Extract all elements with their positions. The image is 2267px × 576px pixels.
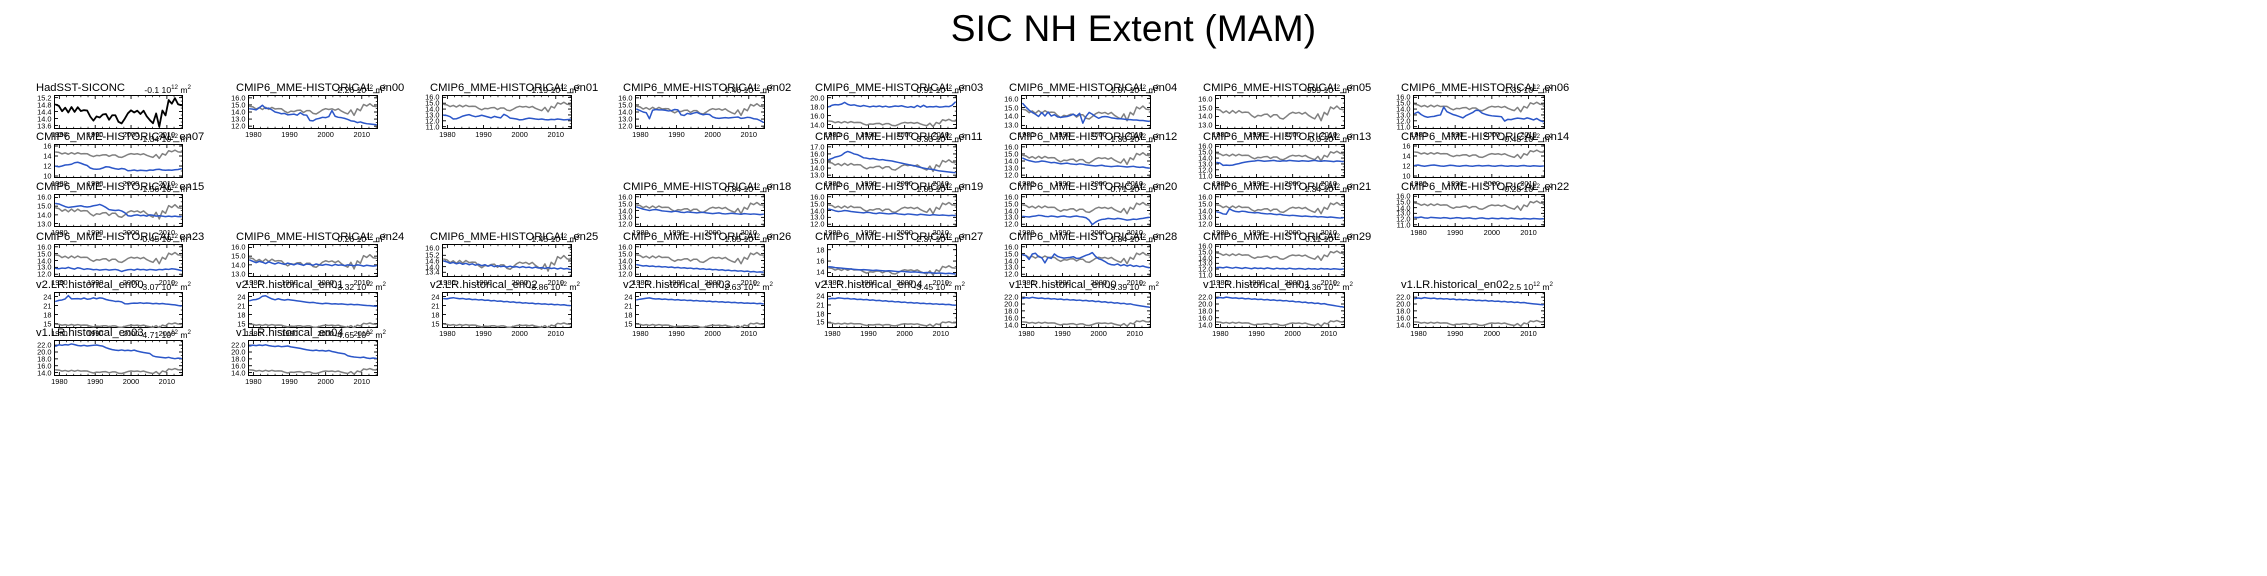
plot-area: 13.014.015.016.01980199020002010 (1215, 95, 1345, 129)
panel-trend-value: -1.46 1012 m2 (722, 82, 773, 96)
panel-trend-value: -3.07 1012 m2 (140, 279, 191, 293)
y-tick-label: 18 (816, 246, 824, 253)
plot-svg (248, 244, 378, 277)
plot-frame (1022, 195, 1151, 227)
panel-header: v1.LR.historical_en03-4.71 1012 m2 (18, 327, 193, 340)
panel-header: v2.LR.historical_en04-3.45 1012 m2 (797, 279, 967, 292)
y-tick-label: 18.0 (810, 103, 824, 110)
plot-svg (1413, 194, 1545, 227)
y-tick-label: 21 (237, 302, 245, 309)
y-tick-label: 13.0 (231, 270, 245, 277)
series-line-model (1415, 298, 1543, 305)
plot-area: 11.012.013.014.015.016.01980199020002010 (1413, 95, 1545, 129)
plot-svg (1413, 95, 1545, 129)
plot-svg (442, 244, 572, 277)
plot-svg (1021, 144, 1151, 178)
series-line-reference (250, 369, 376, 375)
panel-en25: CMIP6_MME-HISTORICAL_en25-1.45 1012 m213… (412, 231, 582, 277)
series-line-model (637, 298, 763, 304)
x-tick-label: 2000 (317, 131, 333, 139)
y-tick-label: 16.0 (1004, 243, 1018, 250)
y-tick-label: 15 (816, 319, 824, 326)
series-line-model (1023, 215, 1149, 224)
y-tick-label: 12.0 (231, 122, 245, 129)
y-tick-label: 15.0 (1198, 104, 1212, 111)
series-line-reference (637, 252, 763, 263)
panel-header: v2.LR.historical_en00-3.07 1012 m2 (18, 279, 193, 292)
series-line-reference (56, 252, 181, 263)
panel-trend-value: -1.05 1012 m2 (722, 231, 773, 245)
panel-trend-value: -1.34 1012 m2 (1302, 181, 1353, 195)
x-tick-label: 1980 (439, 330, 455, 338)
series-line-reference (1217, 106, 1343, 121)
panel-title: v2.LR.historical_en02 (430, 279, 538, 291)
panel-trend-value: -0.91 1012 m2 (914, 82, 965, 96)
panel-v2lr-en02: v2.LR.historical_en02-3.86 1012 m2151821… (412, 279, 582, 328)
panel-trend-value: -3.86 1012 m2 (529, 279, 580, 293)
y-tick-label: 16.0 (231, 244, 245, 251)
y-tick-label: 16.0 (37, 243, 51, 250)
plot-frame (55, 293, 183, 328)
y-tick-label: 24 (431, 293, 439, 300)
y-tick-label: 16 (816, 257, 824, 264)
panel-en06: CMIP6_MME-HISTORICAL_en06-1.33 1012 m211… (1383, 82, 1555, 129)
y-tick-label: 16.0 (1198, 95, 1212, 102)
panel-v2lr-en03: v2.LR.historical_en03-2.63 1012 m2151821… (605, 279, 775, 328)
y-tick-label: 14.0 (1198, 113, 1212, 120)
panel-en13: CMIP6_MME-HISTORICAL_en13-0.3 1012 m211.… (1185, 131, 1355, 178)
y-tick-label: 12.0 (1004, 171, 1018, 178)
x-tick-label: 1980 (632, 330, 648, 338)
y-tick-label: 18 (624, 311, 632, 318)
panel-header: CMIP6_MME-HISTORICAL_en25-1.45 1012 m2 (412, 231, 582, 244)
plot-area: 11.012.013.014.015.016.01980199020002010 (442, 95, 572, 129)
panel-en27: CMIP6_MME-HISTORICAL_en27-2.37 1012 m214… (797, 231, 967, 277)
y-tick-label: 18 (43, 311, 51, 318)
panel-header: v1.LR.historical_en00-3.39 1012 m2 (991, 279, 1161, 292)
plot-frame (1216, 245, 1345, 277)
panel-trend-value: -1.05 1012 m2 (914, 181, 965, 195)
plot-area: 12.013.014.015.016.01980199020002010 (248, 95, 378, 129)
plot-area: 14.016.018.020.022.01980199020002010 (1413, 292, 1545, 328)
y-tick-label: 16.0 (1004, 95, 1018, 102)
panel-trend-value: -1.45 1012 m2 (529, 231, 580, 245)
panel-en01: CMIP6_MME-HISTORICAL_en01-1.19 1012 m211… (412, 82, 582, 129)
series-line-model (829, 298, 955, 305)
x-tick-label: 1980 (1410, 229, 1426, 237)
panel-en26: CMIP6_MME-HISTORICAL_en26-1.05 1012 m212… (605, 231, 775, 277)
series-line-model (1023, 297, 1149, 307)
panel-v2lr-en01: v2.LR.historical_en01-3.32 1012 m2151821… (218, 279, 388, 328)
x-tick-label: 2010 (354, 378, 370, 386)
series-line-reference (1415, 321, 1543, 327)
series-line-model (56, 267, 181, 271)
y-tick-label: 14.0 (618, 108, 632, 115)
x-tick-label: 1990 (668, 330, 684, 338)
series-line-reference (1023, 153, 1149, 165)
plot-svg (827, 194, 957, 227)
plot-area: 12.013.014.015.016.01980199020002010 (1021, 144, 1151, 178)
panel-v1lr-en02: v1.LR.historical_en02-2.5 1012 m214.016.… (1383, 279, 1555, 328)
y-tick-label: 15.0 (1004, 150, 1018, 157)
plot-svg (1215, 95, 1345, 129)
x-tick-label: 2000 (1284, 330, 1300, 338)
plot-svg (248, 95, 378, 129)
y-tick-label: 13.0 (37, 220, 51, 227)
series-line-model (829, 102, 955, 107)
y-tick-label: 14 (1402, 152, 1410, 159)
y-tick-label: 17.0 (810, 143, 824, 150)
plot-svg (54, 340, 183, 376)
panel-trend-value: -1.07 1012 m2 (1108, 82, 1159, 96)
plot-area: 12.013.014.015.016.01980199020002010 (827, 194, 957, 227)
series-line-model (1217, 160, 1343, 165)
x-tick-label: 2010 (741, 330, 757, 338)
panel-trend-value: -3.45 1012 m2 (914, 279, 965, 293)
series-line-model (250, 345, 376, 359)
plot-svg (1413, 292, 1545, 328)
plot-area: 14.016.018.020.022.01980199020002010 (1215, 292, 1345, 328)
x-tick-label: 1990 (87, 378, 103, 386)
x-tick-label: 1990 (1447, 229, 1463, 237)
x-tick-label: 2000 (1484, 330, 1500, 338)
y-tick-label: 13.0 (810, 171, 824, 178)
panel-v1lr-en00: v1.LR.historical_en00-3.39 1012 m214.016… (991, 279, 1161, 328)
x-tick-label: 2010 (548, 330, 564, 338)
plot-area: 12.013.014.015.016.01980199020002010 (1021, 244, 1151, 277)
panel-en03: CMIP6_MME-HISTORICAL_en03-0.91 1012 m214… (797, 82, 967, 129)
x-tick-label: 2000 (896, 330, 912, 338)
figure-title: SIC NH Extent (MAM) (0, 8, 2267, 50)
y-tick-label: 16.0 (1198, 243, 1212, 250)
plot-svg (1215, 194, 1345, 227)
panel-en04: CMIP6_MME-HISTORICAL_en04-1.07 1012 m213… (991, 82, 1161, 129)
x-tick-label: 2000 (317, 378, 333, 386)
plot-svg (1021, 95, 1151, 129)
panel-hadsst-siconc: HadSST-SICONC-0.1 1012 m213.614.014.414.… (18, 82, 193, 129)
plot-svg (1413, 144, 1545, 178)
x-tick-label: 1990 (281, 378, 297, 386)
plot-svg (1021, 244, 1151, 277)
series-line-model (56, 204, 181, 217)
plot-frame (55, 145, 183, 178)
plot-svg (827, 144, 957, 178)
series-line-reference (444, 102, 570, 112)
x-tick-label: 1980 (1410, 330, 1426, 338)
x-tick-label: 2010 (159, 378, 175, 386)
plot-frame (443, 293, 572, 328)
series-line-model (1415, 165, 1543, 166)
plot-svg (442, 292, 572, 328)
y-tick-label: 22.0 (231, 341, 245, 348)
y-tick-label: 22.0 (37, 341, 51, 348)
series-line-reference (1415, 150, 1543, 158)
panel-trend-value: -0.1 1012 m2 (144, 82, 191, 96)
plot-area: 14.016.018.020.01980199020002010 (827, 95, 957, 129)
series-line-model (250, 296, 376, 307)
plot-svg (1215, 244, 1345, 277)
x-tick-label: 1990 (1447, 330, 1463, 338)
panel-en00: CMIP6_MME-HISTORICAL_en00-2.26 1012 m212… (218, 82, 388, 129)
plot-svg (54, 244, 183, 277)
y-tick-label: 13.0 (231, 115, 245, 122)
panel-title: v2.LR.historical_en04 (815, 279, 923, 291)
panel-trend-value: -3.33 1012 m2 (914, 131, 965, 145)
y-tick-label: 12 (1402, 162, 1410, 169)
panel-v1lr-en03: v1.LR.historical_en03-4.71 1012 m214.016… (18, 327, 193, 376)
panel-en24: CMIP6_MME-HISTORICAL_en24-0.26 1012 m213… (218, 231, 388, 277)
series-line-model (56, 344, 181, 359)
series-line-reference (829, 202, 955, 213)
y-tick-label: 15.0 (231, 252, 245, 259)
plot-svg (442, 95, 572, 129)
panel-trend-value: -2.26 1012 m2 (335, 82, 386, 96)
series-line-reference (1217, 251, 1343, 260)
y-tick-label: 15.0 (37, 202, 51, 209)
plot-area: 12.013.014.015.016.01980199020002010 (54, 244, 183, 277)
y-tick-label: 16.0 (1004, 193, 1018, 200)
plot-svg (635, 194, 765, 227)
panel-en18: CMIP6_MME-HISTORICAL_en18-0.84 1012 m212… (605, 181, 775, 227)
y-tick-label: 14.0 (810, 164, 824, 171)
y-tick-label: 21 (431, 302, 439, 309)
plot-area: 1416181980199020002010 (827, 244, 957, 277)
plot-frame (249, 96, 378, 129)
plot-frame (636, 293, 765, 328)
series-line-reference (1023, 321, 1149, 327)
plot-area: 12.013.014.015.016.01980199020002010 (635, 95, 765, 129)
plot-area: 12.013.014.015.016.01980199020002010 (635, 194, 765, 227)
x-tick-label: 2010 (1127, 330, 1143, 338)
x-tick-label: 2010 (548, 131, 564, 139)
series-line-model (1217, 267, 1343, 269)
plot-svg (1215, 144, 1345, 178)
plot-frame (1414, 195, 1545, 227)
plot-svg (1021, 194, 1151, 227)
y-tick-label: 22.0 (1004, 293, 1018, 300)
panel-en15: CMIP6_MME-HISTORICAL_en15-1.56 1012 m213… (18, 181, 193, 227)
y-tick-label: 16.0 (425, 244, 439, 251)
y-tick-label: 12.0 (618, 122, 632, 129)
panel-title: v1.LR.historical_en01 (1203, 279, 1311, 291)
plot-svg (635, 244, 765, 277)
y-tick-label: 15.0 (618, 101, 632, 108)
panel-trend-value: -0.71 1012 m2 (1108, 181, 1159, 195)
series-line-reference (829, 322, 955, 327)
plot-frame (1022, 245, 1151, 277)
y-tick-label: 15 (624, 320, 632, 327)
panel-trend-value: -1.19 1012 m2 (529, 82, 580, 96)
plot-svg (635, 95, 765, 129)
panel-en07: CMIP6_MME-HISTORICAL_en07-1.34 1012 m210… (18, 131, 193, 178)
x-tick-label: 1980 (1018, 330, 1034, 338)
x-tick-label: 2010 (354, 131, 370, 139)
x-tick-label: 2000 (511, 131, 527, 139)
y-tick-label: 10 (1402, 172, 1410, 179)
y-tick-label: 22.0 (1198, 293, 1212, 300)
x-tick-label: 1990 (281, 131, 297, 139)
plot-svg (827, 244, 957, 277)
y-tick-label: 16.0 (37, 194, 51, 201)
series-line-reference (56, 369, 181, 375)
y-tick-label: 13.0 (618, 115, 632, 122)
plot-area: 11.012.013.014.015.016.01980199020002010 (1215, 244, 1345, 277)
y-tick-label: 14.0 (37, 211, 51, 218)
plot-area: 14.016.018.020.022.01980199020002010 (1021, 292, 1151, 328)
x-tick-label: 1980 (245, 378, 261, 386)
x-tick-label: 2000 (704, 330, 720, 338)
x-tick-label: 1990 (1248, 330, 1264, 338)
plot-frame (55, 245, 183, 277)
y-tick-label: 16.0 (618, 94, 632, 101)
panel-header: v2.LR.historical_en02-3.86 1012 m2 (412, 279, 582, 292)
panel-trend-value: -3.39 1012 m2 (1108, 279, 1159, 293)
panel-en29: CMIP6_MME-HISTORICAL_en29-0.11 1012 m211… (1185, 231, 1355, 277)
x-tick-label: 1980 (632, 131, 648, 139)
panel-en20: CMIP6_MME-HISTORICAL_en20-0.71 1012 m212… (991, 181, 1161, 227)
panel-header: v2.LR.historical_en01-3.32 1012 m2 (218, 279, 388, 292)
x-tick-label: 2000 (1090, 330, 1106, 338)
plot-frame (443, 96, 572, 129)
plot-svg (248, 340, 378, 376)
panel-title: v2.LR.historical_en00 (36, 279, 144, 291)
plot-svg (827, 292, 957, 328)
y-tick-label: 16 (43, 142, 51, 149)
panel-en14: CMIP6_MME-HISTORICAL_en14-0.48 1012 m210… (1383, 131, 1555, 178)
y-tick-label: 15.2 (425, 252, 439, 259)
y-tick-label: 12 (43, 162, 51, 169)
x-tick-label: 2000 (704, 131, 720, 139)
plot-area: 13.014.015.016.01980199020002010 (248, 244, 378, 277)
panel-header: v1.LR.historical_en04-4.65 1012 m2 (218, 327, 388, 340)
x-tick-label: 1980 (245, 131, 261, 139)
x-tick-label: 1980 (824, 330, 840, 338)
y-tick-label: 16.0 (810, 193, 824, 200)
panel-title: v1.LR.historical_en04 (236, 327, 344, 339)
y-tick-label: 16.0 (618, 243, 632, 250)
panel-title: v2.LR.historical_en03 (623, 279, 731, 291)
plot-area: 11.012.013.014.015.016.01980199020002010 (1413, 194, 1545, 227)
plot-area: 101214161980199020002010 (54, 144, 183, 178)
panel-title: v2.LR.historical_en01 (236, 279, 344, 291)
plot-area: 151821241980199020002010 (248, 292, 378, 328)
y-tick-label: 15.0 (1004, 104, 1018, 111)
plot-area: 151821241980199020002010 (827, 292, 957, 328)
plot-area: 13.014.015.016.01980199020002010 (1021, 95, 1151, 129)
y-tick-label: 15.0 (231, 101, 245, 108)
series-line-model (1023, 253, 1149, 268)
y-tick-label: 14.0 (231, 108, 245, 115)
panel-trend-value: -3.32 1012 m2 (335, 279, 386, 293)
series-line-reference (1217, 151, 1343, 161)
y-tick-label: 14.4 (37, 108, 51, 115)
plot-area: 12.013.014.015.016.01980199020002010 (635, 244, 765, 277)
panel-trend-value: -0.84 1012 m2 (722, 181, 773, 195)
panel-trend-value: -0.26 1012 m2 (335, 231, 386, 245)
panel-trend-value: -1.84 1012 m2 (1108, 231, 1159, 245)
plot-svg (54, 95, 183, 129)
x-tick-label: 1980 (439, 131, 455, 139)
x-tick-label: 1990 (475, 330, 491, 338)
panel-header: CMIP6_MME-HISTORICAL_en27-2.37 1012 m2 (797, 231, 967, 244)
plot-svg (635, 292, 765, 328)
y-tick-label: 24 (624, 293, 632, 300)
y-tick-label: 16.0 (231, 94, 245, 101)
panel-trend-value: -1.33 1012 m2 (1108, 131, 1159, 145)
y-tick-label: 22.0 (1396, 293, 1410, 300)
plot-area: 14.016.018.020.022.01980199020002010 (54, 340, 183, 376)
y-tick-label: 21 (816, 301, 824, 308)
x-tick-label: 1980 (1212, 330, 1228, 338)
panel-trend-value: -4.65 1012 m2 (335, 327, 386, 341)
panel-title: v1.LR.historical_en00 (1009, 279, 1117, 291)
y-tick-label: 16.0 (1198, 143, 1212, 150)
plot-area: 13.014.015.016.01980199020002010 (54, 194, 183, 227)
x-tick-label: 1990 (475, 131, 491, 139)
panel-en19: CMIP6_MME-HISTORICAL_en19-1.05 1012 m212… (797, 181, 967, 227)
x-tick-label: 2010 (1520, 330, 1536, 338)
y-tick-label: 14 (43, 152, 51, 159)
panel-title: v1.LR.historical_en03 (36, 327, 144, 339)
panel-header: v1.LR.historical_en01-3.36 1012 m2 (1185, 279, 1355, 292)
series-line-reference (56, 150, 181, 158)
plot-svg (1215, 292, 1345, 328)
panel-v2lr-en00: v2.LR.historical_en00-3.07 1012 m2151821… (18, 279, 193, 328)
y-tick-label: 18 (237, 311, 245, 318)
y-tick-label: 14.0 (1004, 113, 1018, 120)
x-tick-label: 2000 (511, 330, 527, 338)
panel-trend-value: -3.36 1012 m2 (1302, 279, 1353, 293)
y-tick-label: 16.0 (810, 150, 824, 157)
panel-trend-value: -2.5 1012 m2 (1506, 279, 1553, 293)
series-line-model (1217, 297, 1343, 307)
panel-trend-value: -0.11 1012 m2 (1302, 231, 1353, 245)
plot-area: 13.014.015.016.017.01980199020002010 (827, 144, 957, 178)
plot-area: 151821241980199020002010 (54, 292, 183, 328)
panel-en05: CMIP6_MME-HISTORICAL_en05-999 1012 m213.… (1185, 82, 1355, 129)
plot-area: 13.414.014.615.216.01980199020002010 (442, 244, 572, 277)
panel-trend-value: -1.56 1012 m2 (140, 181, 191, 195)
panel-en22: CMIP6_MME-HISTORICAL_en22-0.28 1012 m211… (1383, 181, 1555, 227)
panel-trend-value: -4.71 1012 m2 (140, 327, 191, 341)
x-tick-label: 2010 (741, 131, 757, 139)
plot-area: 14.016.018.020.022.01980199020002010 (248, 340, 378, 376)
series-line-reference (829, 119, 955, 126)
panel-trend-value: -999 1012 m2 (1304, 82, 1353, 96)
y-tick-label: 20.0 (810, 94, 824, 101)
x-tick-label: 1990 (668, 131, 684, 139)
series-line-model (56, 296, 181, 306)
y-tick-label: 13.0 (1004, 122, 1018, 129)
plot-area: 11.012.013.014.015.016.01980199020002010 (1215, 144, 1345, 178)
y-tick-label: 14.0 (231, 261, 245, 268)
plot-svg (1021, 292, 1151, 328)
y-tick-label: 14.8 (37, 101, 51, 108)
panel-en11: CMIP6_MME-HISTORICAL_en11-3.33 1012 m213… (797, 131, 967, 178)
series-line-reference (250, 104, 376, 116)
series-line-model (444, 298, 570, 306)
x-tick-label: 2010 (1520, 229, 1536, 237)
x-tick-label: 1990 (1054, 330, 1070, 338)
series-line-reference (1217, 321, 1343, 327)
panel-trend-value: -1.34 1012 m2 (140, 131, 191, 145)
y-tick-label: 13.0 (1004, 164, 1018, 171)
y-tick-label: 24 (816, 293, 824, 300)
plot-area: 151821241980199020002010 (442, 292, 572, 328)
series-line-reference (1023, 202, 1149, 213)
panel-en23: CMIP6_MME-HISTORICAL_en23-0.45 1012 m212… (18, 231, 193, 277)
plot-svg (827, 95, 957, 129)
